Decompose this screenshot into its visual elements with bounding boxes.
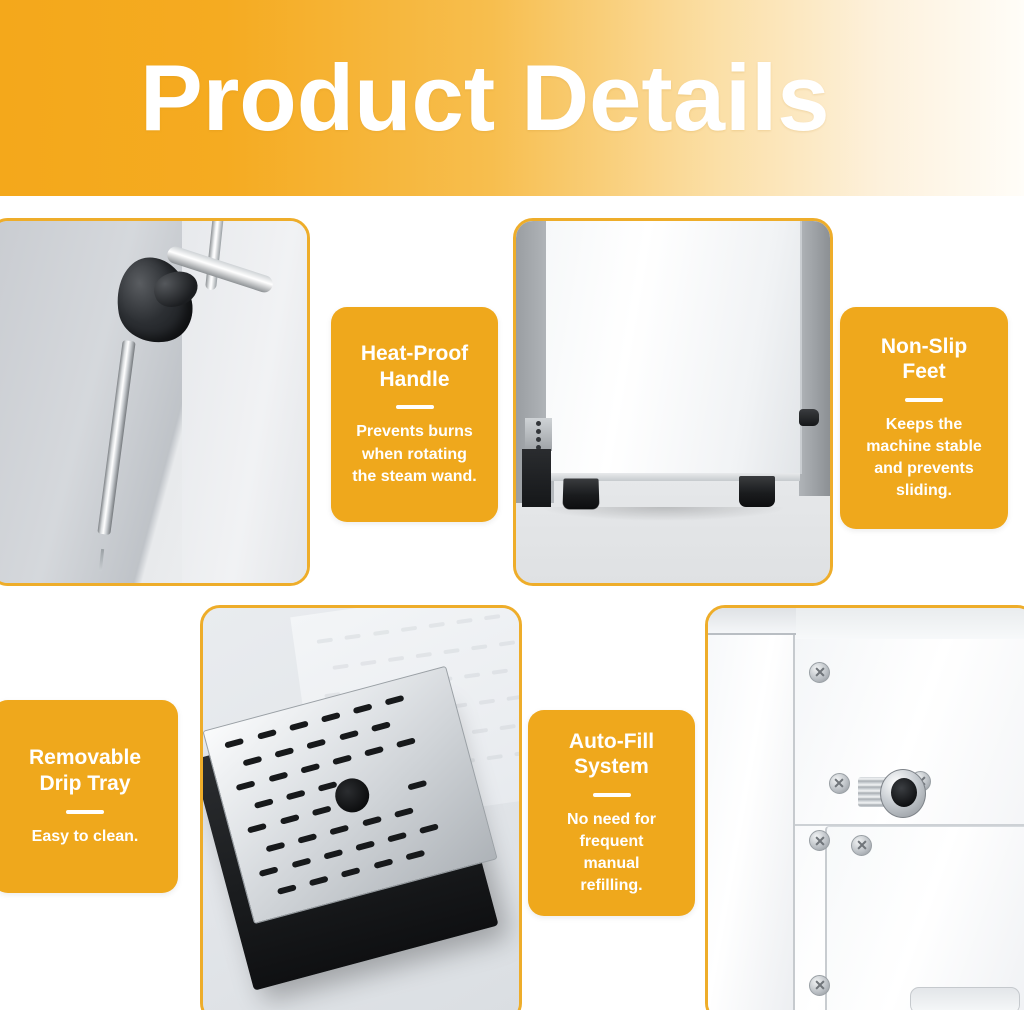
- panel-slot: [333, 663, 349, 669]
- divider: [905, 398, 943, 402]
- panel-slot: [472, 728, 488, 734]
- panel-slot: [479, 699, 495, 705]
- grate-slot: [370, 721, 390, 732]
- panel-slot: [515, 750, 522, 756]
- phillips-screw-icon: [809, 975, 830, 996]
- grate-slot: [224, 737, 244, 748]
- grate-slot: [338, 729, 358, 740]
- grate-slot: [364, 745, 384, 756]
- grate-slot: [385, 694, 405, 705]
- page-title: Product Details: [140, 51, 830, 145]
- panel-slot: [487, 754, 503, 760]
- grate-slot: [387, 831, 407, 842]
- panel-slot: [373, 629, 389, 635]
- photo-non-slip-feet: [513, 218, 833, 586]
- divider: [396, 405, 434, 409]
- panel-slot: [428, 621, 444, 627]
- grate-slot: [306, 738, 326, 749]
- grate-slot: [361, 815, 381, 826]
- grate-slot: [373, 858, 393, 869]
- grate-slot: [329, 824, 349, 835]
- grate-slot: [268, 771, 288, 782]
- steam-wand-scene: [0, 221, 307, 583]
- grate-slot: [279, 814, 299, 825]
- grate-slot: [419, 822, 439, 833]
- drain-hole-icon: [331, 774, 373, 816]
- black-component-box: [522, 449, 550, 507]
- grate-slot: [355, 840, 375, 851]
- feature-body: Prevents burns when rotating the steam w…: [352, 421, 476, 487]
- drip-tray-scene: [203, 608, 519, 1010]
- photo-auto-fill-system: [705, 605, 1024, 1010]
- machine-feet-scene: [516, 221, 830, 583]
- rubber-foot-icon: [563, 478, 600, 509]
- product-details-infographic: Product Details: [0, 0, 1024, 1010]
- door-handle-icon: [910, 987, 1020, 1010]
- photo-removable-drip-tray: [200, 605, 522, 1010]
- feature-card-auto-fill-system[interactable]: Auto-Fill System No need for frequent ma…: [528, 710, 695, 916]
- feature-title: Heat-Proof Handle: [361, 341, 468, 392]
- panel-slot: [360, 659, 376, 665]
- machine-top-band: [793, 608, 1024, 641]
- grate-slot: [323, 848, 343, 859]
- grate-slot: [253, 798, 273, 809]
- rubber-foot-icon: [739, 476, 775, 507]
- grate-slot: [274, 747, 294, 758]
- grate-slot: [291, 857, 311, 868]
- panel-slot: [317, 637, 333, 643]
- phillips-screw-icon: [851, 835, 872, 856]
- background-wall-right: [799, 221, 830, 496]
- panel-slot: [388, 655, 404, 661]
- grate-slot: [276, 884, 296, 895]
- grate-slot: [396, 737, 416, 748]
- grate-slot: [311, 805, 331, 816]
- machine-side-panel: [546, 218, 802, 474]
- contact-shadow: [541, 507, 786, 521]
- feature-title: Non-Slip Feet: [881, 334, 967, 385]
- vent-grill-icon: [525, 418, 552, 451]
- feature-body: No need for frequent manual refilling.: [567, 809, 656, 897]
- grate-slot: [405, 849, 425, 860]
- machine-side-panel: [705, 620, 795, 1010]
- phillips-screw-icon: [829, 773, 850, 794]
- feature-title: Auto-Fill System: [569, 729, 654, 780]
- phillips-screw-icon: [809, 662, 830, 683]
- panel-slot: [499, 640, 515, 646]
- grate-slot: [242, 755, 262, 766]
- grate-slot: [297, 832, 317, 843]
- divider: [593, 793, 631, 797]
- grate-slot: [332, 754, 352, 765]
- feature-card-removable-drip-tray[interactable]: Removable Drip Tray Easy to clean.: [0, 700, 178, 893]
- grate-slot: [352, 703, 372, 714]
- panel-slot: [400, 625, 416, 631]
- grate-slot: [308, 875, 328, 886]
- panel-slot: [471, 643, 487, 649]
- machine-top-cap: [705, 608, 796, 635]
- feature-card-non-slip-feet[interactable]: Non-Slip Feet Keeps the machine stable a…: [840, 307, 1008, 529]
- water-inlet-connector-icon: [858, 769, 924, 816]
- panel-slot: [456, 618, 472, 624]
- grate-slot: [407, 780, 427, 791]
- feature-title: Removable Drip Tray: [29, 745, 141, 796]
- panel-slot: [499, 724, 515, 730]
- inlet-opening: [891, 778, 917, 807]
- feature-body: Easy to clean.: [32, 826, 139, 848]
- photo-heat-proof-handle: [0, 218, 310, 586]
- grate-slot: [265, 841, 285, 852]
- panel-slot: [345, 633, 361, 639]
- panel-slot: [484, 614, 500, 620]
- grate-slot: [285, 789, 305, 800]
- grate-slot: [236, 780, 256, 791]
- header-banner: Product Details: [0, 0, 1024, 196]
- divider: [66, 810, 104, 814]
- auto-fill-scene: [708, 608, 1024, 1010]
- grate-slot: [300, 763, 320, 774]
- grate-slot: [393, 806, 413, 817]
- grate-slot: [259, 865, 279, 876]
- panel-slot: [464, 673, 480, 679]
- grate-slot: [256, 728, 276, 739]
- grate-slot: [340, 866, 360, 877]
- feature-body: Keeps the machine stable and prevents sl…: [866, 414, 982, 502]
- panel-slot: [507, 695, 522, 701]
- grate-slot: [288, 720, 308, 731]
- feature-card-heat-proof-handle[interactable]: Heat-Proof Handle Prevents burns when ro…: [331, 307, 498, 522]
- panel-slot: [416, 651, 432, 657]
- panel-slot: [444, 647, 460, 653]
- rear-tab-icon: [799, 409, 819, 425]
- grate-slot: [318, 781, 338, 792]
- panel-slot: [492, 669, 508, 675]
- grate-slot: [320, 711, 340, 722]
- grate-slot: [247, 823, 267, 834]
